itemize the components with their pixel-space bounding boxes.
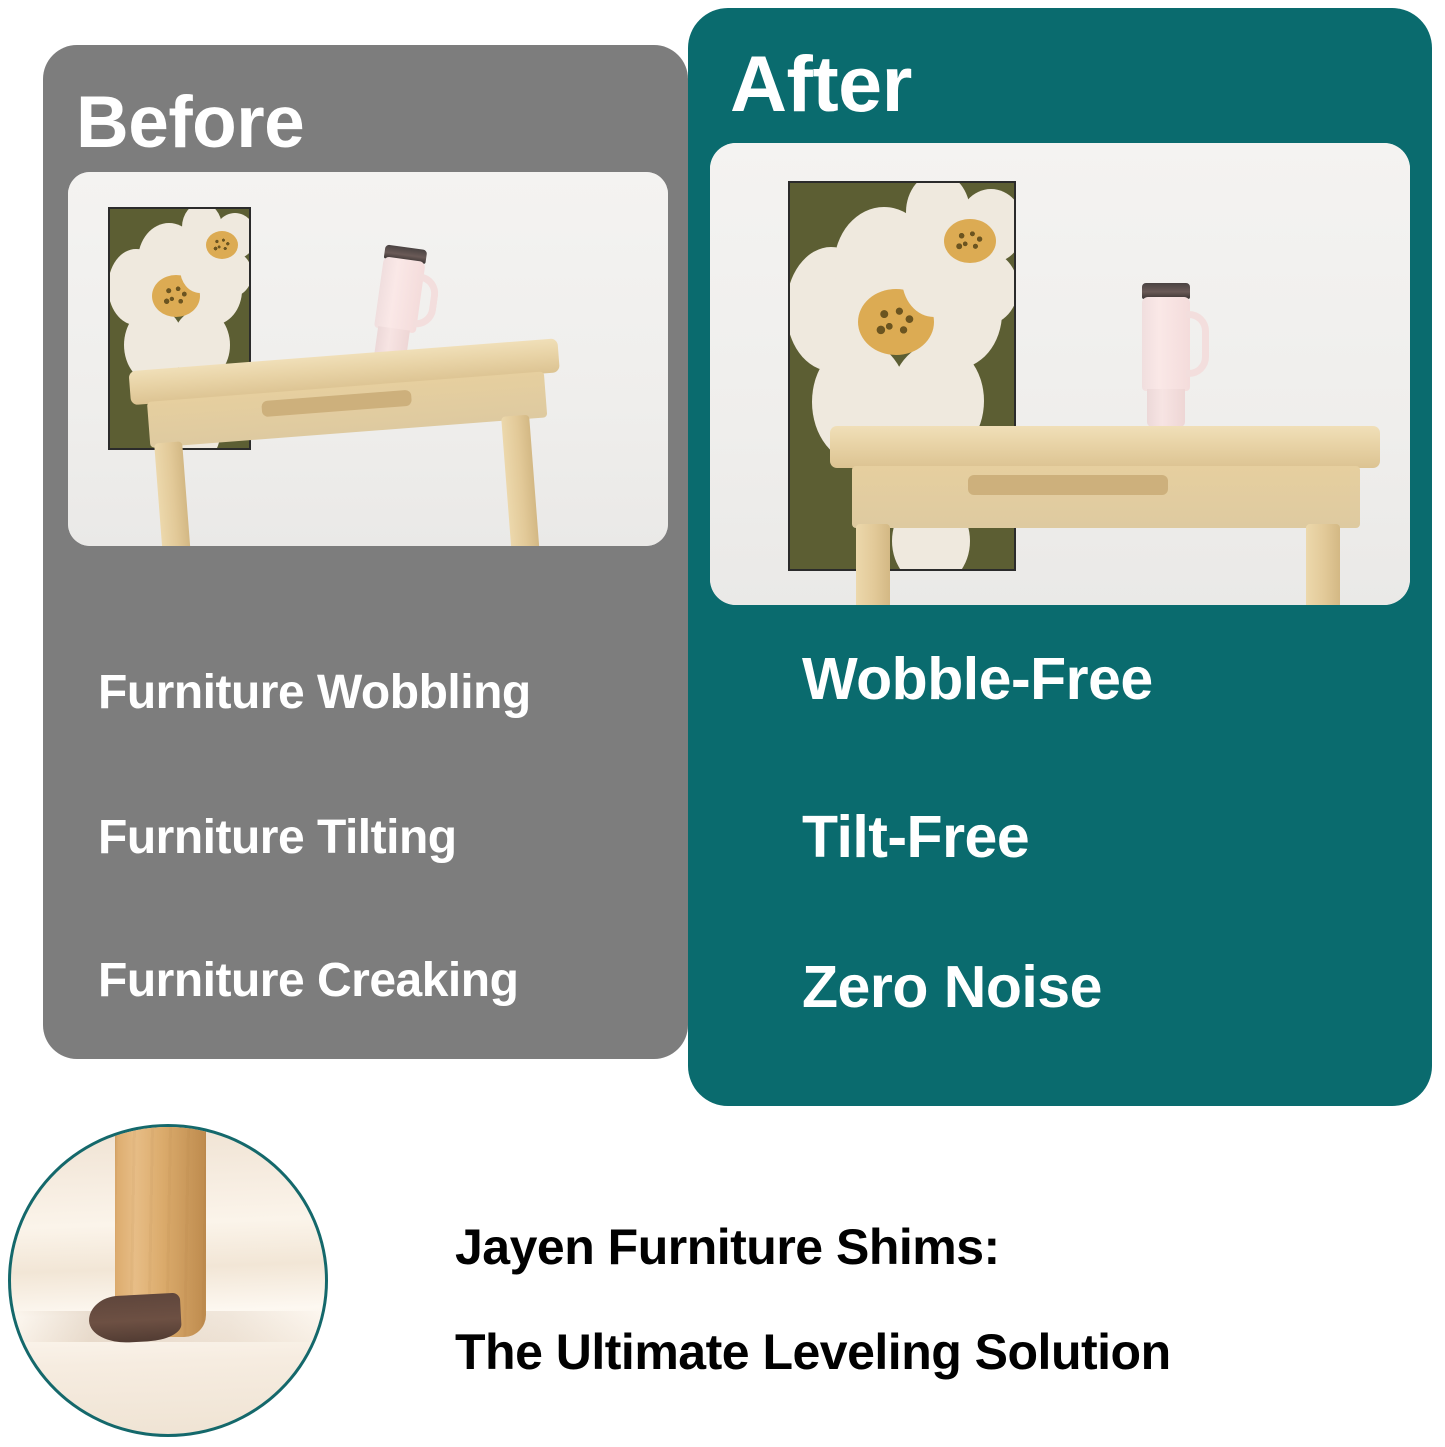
after-feature-item: Tilt-Free [802, 803, 1029, 871]
before-scene [68, 172, 668, 546]
table-top [830, 426, 1380, 468]
table-level [710, 143, 1410, 605]
drawer-pull [968, 475, 1168, 495]
table-leg-left [154, 441, 193, 546]
before-feature-item: Furniture Creaking [98, 953, 518, 1008]
before-panel-title: Before [76, 81, 304, 164]
after-feature-item: Zero Noise [802, 953, 1102, 1021]
before-photo-card [68, 172, 668, 546]
after-panel: After [688, 8, 1432, 1106]
before-feature-item: Furniture Tilting [98, 810, 457, 865]
after-panel-title: After [730, 38, 912, 130]
after-feature-item: Wobble-Free [802, 645, 1153, 713]
caption-line-1: Jayen Furniture Shims: [455, 1218, 1000, 1276]
caption-line-2: The Ultimate Leveling Solution [455, 1323, 1171, 1381]
table-leg-right [501, 415, 540, 546]
table-leg-right [1306, 524, 1340, 605]
before-panel: Before [43, 45, 688, 1059]
after-photo-card [710, 143, 1410, 605]
product-shot-circle [8, 1124, 328, 1437]
table-tilted [68, 172, 668, 546]
before-feature-item: Furniture Wobbling [98, 665, 531, 720]
after-scene [710, 143, 1410, 605]
furniture-shim [88, 1293, 182, 1345]
table-leg-left [856, 524, 890, 605]
